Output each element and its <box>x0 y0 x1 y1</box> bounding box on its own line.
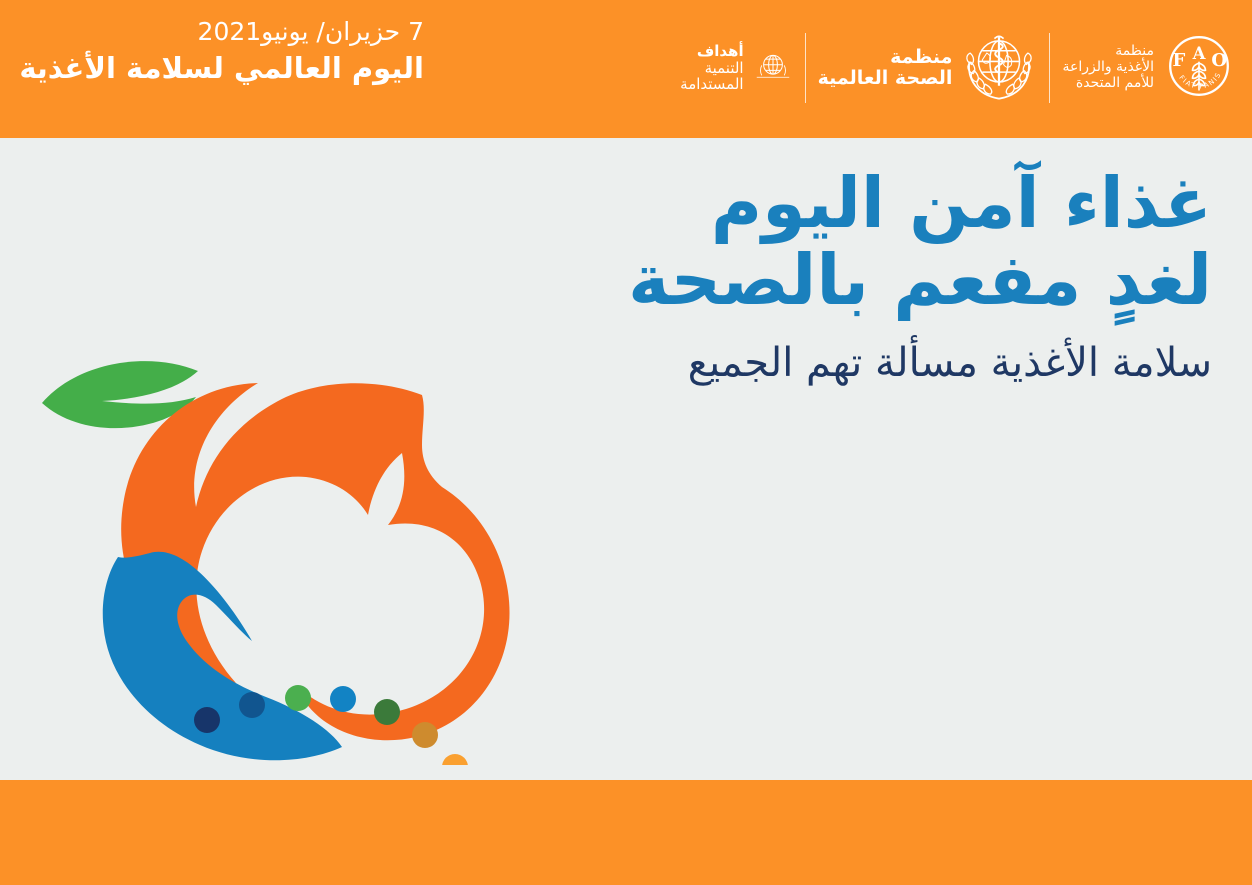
fao-emblem-icon: F A O <box>1163 30 1235 106</box>
header-day-title: اليوم العالمي لسلامة الأغذية <box>24 51 424 86</box>
logo-divider-1 <box>805 33 806 103</box>
sdg-dot-7 <box>442 754 468 765</box>
who-logo-line-1: منظمة <box>818 47 953 68</box>
footer-band: www.fao.org/world-food-safety-day www.wh… <box>0 780 1252 885</box>
sdg-dot-4 <box>330 686 356 712</box>
fao-logo: منظمة الأغذية والزراعة للأمم المتحدة F A… <box>1062 25 1235 111</box>
sdg-dot-5 <box>374 699 400 725</box>
sdg-logo-line-2: التنمية <box>680 60 743 77</box>
sdg-logo-line-3: المستدامة <box>680 76 743 93</box>
poster-canvas: 7 حزيران/ يونيو2021 اليوم العالمي لسلامة… <box>0 0 1252 885</box>
header-band: 7 حزيران/ يونيو2021 اليوم العالمي لسلامة… <box>0 0 1252 138</box>
sdg-dot-6 <box>412 722 438 748</box>
header-text-block: 7 حزيران/ يونيو2021 اليوم العالمي لسلامة… <box>24 18 424 86</box>
world-food-safety-day-emblem <box>30 335 540 765</box>
sdg-dot-2 <box>239 692 265 718</box>
hand-icon <box>103 552 342 760</box>
sdg-dot-3 <box>285 685 311 711</box>
svg-text:F: F <box>1172 50 1185 71</box>
main-title-block: غذاء آمن اليوم لغدٍ مفعم بالصحة سلامة ال… <box>452 168 1212 387</box>
logo-divider-2 <box>1049 33 1050 103</box>
who-emblem-icon <box>961 28 1037 108</box>
subtitle: سلامة الأغذية مسألة تهم الجميع <box>452 339 1212 387</box>
svg-text:A: A <box>1192 43 1207 63</box>
fao-logo-wordmark: منظمة الأغذية والزراعة للأمم المتحدة <box>1062 44 1154 91</box>
svg-text:FIAT PANIS: FIAT PANIS <box>1177 71 1223 91</box>
who-logo: منظمة الصحة العالمية <box>818 25 1038 111</box>
sdg-dot-1 <box>194 707 220 733</box>
who-logo-wordmark: منظمة الصحة العالمية <box>818 47 953 90</box>
title-line-2: لغدٍ مفعم بالصحة <box>452 245 1212 316</box>
fao-logo-line-1: منظمة <box>1062 44 1154 60</box>
organisation-logo-lockup: أهداف التنمية المستدامة <box>690 18 1235 118</box>
title-line-1: غذاء آمن اليوم <box>452 168 1212 239</box>
fao-logo-line-2: الأغذية والزراعة <box>1062 60 1154 76</box>
sdg-logo-wordmark: أهداف التنمية المستدامة <box>680 43 743 93</box>
fao-logo-line-3: للأمم المتحدة <box>1062 76 1154 92</box>
sdg-logo: أهداف التنمية المستدامة <box>680 25 792 111</box>
who-logo-line-2: الصحة العالمية <box>818 68 953 89</box>
fao-motto: FIAT PANIS <box>1177 71 1223 91</box>
sdg-logo-line-1: أهداف <box>680 43 743 60</box>
header-date: 7 حزيران/ يونيو2021 <box>24 18 424 47</box>
svg-text:O: O <box>1211 50 1227 71</box>
un-sdg-emblem-icon <box>753 46 793 90</box>
